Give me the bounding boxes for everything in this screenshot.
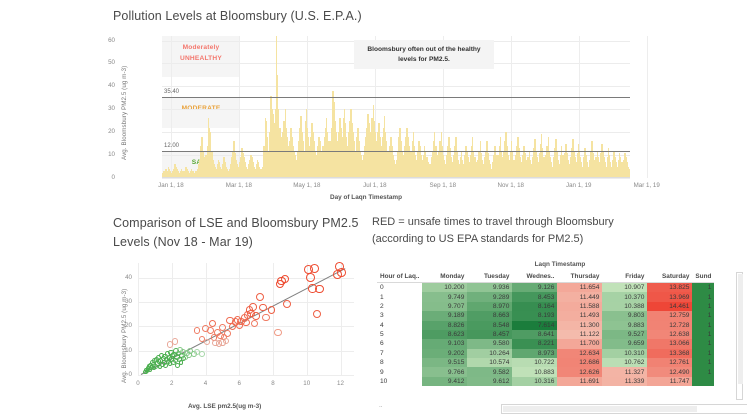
scatter-point[interactable]	[306, 273, 315, 282]
crosstab-cell[interactable]	[692, 377, 714, 386]
crosstab-cell[interactable]: 12.728	[647, 321, 692, 330]
crosstab-cell[interactable]: 1	[692, 339, 714, 348]
crosstab-cell[interactable]: 10.883	[512, 367, 557, 376]
table-row[interactable]: 19.7499.2898.45311.44910.37013.9691	[377, 292, 714, 301]
crosstab-body[interactable]: 010.2009.9369.12611.65410.90713.825119.7…	[377, 283, 714, 387]
crosstab-cell[interactable]: 9.883	[602, 321, 647, 330]
scatter-point[interactable]	[283, 300, 291, 308]
scatter-point[interactable]	[199, 351, 205, 357]
crosstab-cell[interactable]: 11.122	[557, 330, 602, 339]
scatter-point[interactable]	[262, 314, 270, 322]
crosstab-col-header-wednes[interactable]: Wednes..	[512, 272, 557, 283]
crosstab-cell[interactable]: 10.722	[512, 358, 557, 367]
scatter-point[interactable]	[337, 268, 346, 277]
scatter-x-tick: 10	[295, 380, 319, 387]
top-chart-y-tick: 60	[75, 37, 115, 44]
scatter-vgrid	[138, 263, 139, 375]
crosstab-cell[interactable]: 9.749	[422, 292, 467, 301]
crosstab-cell[interactable]: 11.588	[557, 302, 602, 311]
threshold-line-35.40	[162, 97, 630, 98]
top-chart-vgrid	[647, 36, 648, 178]
crosstab-cell[interactable]: 8.457	[467, 330, 512, 339]
scatter-point[interactable]	[249, 303, 257, 311]
crosstab-container[interactable]: Laqn Timestamp Hour of Laq..MondayTuesda…	[377, 261, 743, 413]
scatter-vgrid	[273, 263, 274, 375]
crosstab-cell[interactable]: 10.762	[602, 358, 647, 367]
band-label-0-line2: UNHEALTHY	[162, 55, 240, 62]
crosstab-cell[interactable]: 8.221	[512, 339, 557, 348]
scatter-x-tick: 2	[160, 380, 184, 387]
crosstab-cell[interactable]: 10.388	[602, 302, 647, 311]
crosstab-cell[interactable]: 9.803	[602, 311, 647, 320]
top-chart-x-axis-line	[162, 177, 630, 178]
scatter-point[interactable]	[315, 285, 323, 293]
crosstab-cell[interactable]: 11.300	[557, 321, 602, 330]
scatter-point[interactable]	[281, 275, 289, 283]
crosstab-cell[interactable]: 12.490	[647, 367, 692, 376]
table-horizontal-scroll-thumb[interactable]	[503, 406, 697, 412]
crosstab-cell[interactable]: 9.659	[602, 339, 647, 348]
crosstab-cell[interactable]: 1	[692, 330, 714, 339]
crosstab-cell[interactable]: 9.515	[422, 358, 467, 367]
crosstab-cell[interactable]: 10.907	[602, 283, 647, 293]
top-chart-y-axis-label: Avg. Bloomsbury PM2.5 (ug m-3)	[121, 66, 128, 160]
crosstab-cell[interactable]: 12.626	[557, 367, 602, 376]
crosstab-cell[interactable]: 1	[692, 321, 714, 330]
scatter-point[interactable]	[252, 312, 260, 320]
crosstab-row-label: 8	[377, 358, 422, 367]
crosstab-cell[interactable]: 9.580	[467, 339, 512, 348]
top-chart-x-axis-label: Day of Laqn Timestamp	[330, 194, 402, 201]
crosstab-row-label: 9	[377, 367, 422, 376]
crosstab-cell[interactable]: 13.825	[647, 283, 692, 293]
scatter-x-tick: 8	[261, 380, 285, 387]
crosstab-col-header-thursday[interactable]: Thursday	[557, 272, 602, 283]
crosstab-cell[interactable]: 10.200	[422, 283, 467, 293]
crosstab-cell[interactable]: 1	[692, 358, 714, 367]
crosstab-cell[interactable]: 11.654	[557, 283, 602, 293]
table-row[interactable]: 39.1898.6638.19311.4939.80312.7591	[377, 311, 714, 320]
top-chart-annotation: Bloomsbury often out of the healthy leve…	[354, 40, 494, 69]
crosstab-cell[interactable]: 1	[692, 292, 714, 301]
dashboard: Pollution Levels at Bloomsbury (U.S. E.P…	[0, 0, 747, 420]
row-overflow-indicator: ..	[379, 402, 383, 409]
crosstab-cell[interactable]: 11.691	[557, 377, 602, 386]
scatter-hgrid	[138, 326, 354, 327]
scatter-point[interactable]	[204, 339, 210, 345]
table-row[interactable]: 29.7078.9708.16411.58810.38814.4611	[377, 302, 714, 311]
table-row[interactable]: 109.4129.61210.31611.69111.33911.747	[377, 377, 714, 386]
scatter-y-tick: 0	[114, 371, 132, 378]
crosstab-cell[interactable]: 9.103	[422, 339, 467, 348]
crosstab-cell[interactable]: 10.574	[467, 358, 512, 367]
crosstab-cell[interactable]: 11.747	[647, 377, 692, 386]
scatter-hgrid	[138, 278, 354, 279]
top-chart-x-tick: Sep 1, 18	[413, 182, 473, 189]
scatter-x-tick: 6	[227, 380, 251, 387]
top-chart-y-tick: 40	[75, 82, 115, 89]
crosstab-cell[interactable]: 1	[692, 302, 714, 311]
crosstab-cell[interactable]: 9.527	[602, 330, 647, 339]
heatmap-table-panel: RED = unsafe times to travel through Blo…	[372, 205, 747, 420]
table-vertical-scrollbar[interactable]	[736, 272, 743, 400]
crosstab-cell[interactable]: 1	[692, 283, 714, 293]
crosstab-header-row: Hour of Laq..MondayTuesdayWednes..Thursd…	[377, 272, 714, 283]
crosstab-cell[interactable]: 8.973	[512, 349, 557, 358]
top-chart-x-tick: Mar 1, 19	[617, 182, 677, 189]
crosstab-row-label: 1	[377, 292, 422, 301]
crosstab-cell[interactable]: 9.202	[422, 349, 467, 358]
column-group-header: Laqn Timestamp	[377, 261, 743, 268]
crosstab-head: Hour of Laq..MondayTuesdayWednes..Thursd…	[377, 272, 714, 283]
table-row[interactable]: 010.2009.9369.12611.65410.90713.8251	[377, 283, 714, 293]
crosstab-cell[interactable]: 11.327	[602, 367, 647, 376]
scatter-point[interactable]	[179, 360, 184, 365]
page-title: Pollution Levels at Bloomsbury (U.S. E.P…	[113, 9, 362, 23]
crosstab-cell[interactable]: 14.461	[647, 302, 692, 311]
scatter-y-tick: 40	[114, 274, 132, 281]
crosstab-row-header[interactable]: Hour of Laq..	[377, 272, 422, 283]
crosstab-row-label: 6	[377, 339, 422, 348]
scatter-hgrid	[138, 375, 354, 376]
scatter-point[interactable]	[194, 327, 201, 334]
scatter-point[interactable]	[223, 338, 229, 344]
crosstab-col-header-monday[interactable]: Monday	[422, 272, 467, 283]
top-chart-x-tick: Jul 1, 18	[345, 182, 405, 189]
scatter-panel: Comparison of LSE and Bloomsbury PM2.5 L…	[0, 205, 372, 420]
scatter-point[interactable]	[224, 330, 231, 337]
table-row[interactable]: 89.51510.57410.72212.68610.76212.7611	[377, 358, 714, 367]
scatter-point[interactable]	[172, 338, 178, 344]
pollution-timeseries-panel: Pollution Levels at Bloomsbury (U.S. E.P…	[0, 0, 747, 205]
crosstab-cell[interactable]: 12.686	[557, 358, 602, 367]
crosstab-col-header-tuesday[interactable]: Tuesday	[467, 272, 512, 283]
table-row[interactable]: 99.7669.58210.88312.62611.32712.4901	[377, 367, 714, 376]
band-region-1	[162, 97, 240, 128]
scatter-plot-area[interactable]	[138, 263, 354, 375]
scatter-point[interactable]	[274, 329, 281, 336]
top-chart-gridline	[162, 132, 630, 133]
crosstab-cell[interactable]: 11.700	[557, 339, 602, 348]
crosstab-cell[interactable]: 12.759	[647, 311, 692, 320]
top-chart-x-tick: Nov 1, 18	[481, 182, 541, 189]
scatter-y-tick: 30	[114, 298, 132, 305]
crosstab-row-label: 10	[377, 377, 422, 386]
threshold-line-12.00	[162, 151, 630, 152]
top-chart-x-tick: Jan 1, 18	[141, 182, 201, 189]
crosstab-row-label: 2	[377, 302, 422, 311]
table-row[interactable]: 58.6238.4578.64111.1229.52712.6381	[377, 330, 714, 339]
crosstab-cell[interactable]: 10.310	[602, 349, 647, 358]
table-horizontal-scrollbar[interactable]	[501, 404, 747, 414]
scatter-point[interactable]	[313, 310, 321, 318]
scatter-vgrid	[206, 263, 207, 375]
crosstab-cell[interactable]: 11.449	[557, 292, 602, 301]
scatter-x-tick: 0	[126, 380, 150, 387]
crosstab-cell[interactable]: 9.289	[467, 292, 512, 301]
crosstab-cell[interactable]: 13.066	[647, 339, 692, 348]
scatter-x-tick: 4	[194, 380, 218, 387]
crosstab-row-label: 3	[377, 311, 422, 320]
crosstab-cell[interactable]: 9.126	[512, 283, 557, 293]
scatter-y-tick: 10	[114, 347, 132, 354]
crosstab-cell[interactable]: 8.641	[512, 330, 557, 339]
top-chart-vgrid	[171, 36, 172, 178]
crosstab-cell[interactable]: 8.623	[422, 330, 467, 339]
crosstab-cell[interactable]: 9.412	[422, 377, 467, 386]
crosstab-cell[interactable]: 1	[692, 349, 714, 358]
pm25-crosstab[interactable]: Hour of Laq..MondayTuesdayWednes..Thursd…	[377, 272, 714, 386]
table-row[interactable]: 48.8268.5487.61411.3009.88312.7281	[377, 321, 714, 330]
top-chart-x-tick: Jan 1, 19	[549, 182, 609, 189]
crosstab-cell[interactable]: 8.548	[467, 321, 512, 330]
top-chart-y-tick: 30	[75, 105, 115, 112]
scatter-point[interactable]	[268, 306, 276, 314]
top-chart-y-tick: 10	[75, 151, 115, 158]
crosstab-cell[interactable]: 10.370	[602, 292, 647, 301]
table-vertical-scroll-thumb[interactable]	[738, 274, 743, 384]
crosstab-cell[interactable]: 11.339	[602, 377, 647, 386]
scatter-vgrid	[341, 263, 342, 375]
crosstab-cell[interactable]: 13.969	[647, 292, 692, 301]
crosstab-cell[interactable]: 9.936	[467, 283, 512, 293]
crosstab-cell[interactable]: 10.264	[467, 349, 512, 358]
crosstab-cell[interactable]: 8.193	[512, 311, 557, 320]
crosstab-cell[interactable]: 9.707	[422, 302, 467, 311]
scatter-y-tick: 20	[114, 322, 132, 329]
scatter-point[interactable]	[207, 327, 214, 334]
scatter-point[interactable]	[256, 293, 264, 301]
crosstab-cell[interactable]: 12.761	[647, 358, 692, 367]
scatter-title: Comparison of LSE and Bloomsbury PM2.5 L…	[113, 214, 373, 252]
scatter-point[interactable]	[259, 304, 267, 312]
threshold-value-12.00: 12.00	[164, 143, 179, 149]
crosstab-cell[interactable]: 8.970	[467, 302, 512, 311]
crosstab-cell[interactable]: 8.164	[512, 302, 557, 311]
crosstab-cell[interactable]: 8.826	[422, 321, 467, 330]
crosstab-cell[interactable]: 9.766	[422, 367, 467, 376]
scatter-point[interactable]	[310, 264, 319, 273]
crosstab-cell[interactable]: 13.368	[647, 349, 692, 358]
crosstab-row-label: 7	[377, 349, 422, 358]
top-chart-x-tick: Mar 1, 18	[209, 182, 269, 189]
crosstab-cell[interactable]: 8.453	[512, 292, 557, 301]
crosstab-cell[interactable]: 1	[692, 311, 714, 320]
crosstab-cell[interactable]: 10.316	[512, 377, 557, 386]
scatter-x-tick: 12	[329, 380, 353, 387]
top-chart-gridline	[162, 86, 630, 87]
top-chart-x-tick: May 1, 18	[277, 182, 337, 189]
band-label-0: Moderately	[162, 44, 240, 51]
crosstab-cell[interactable]: 8.663	[467, 311, 512, 320]
crosstab-row-label: 0	[377, 283, 422, 293]
scatter-hgrid	[138, 302, 354, 303]
crosstab-col-header-sund[interactable]: Sund	[692, 272, 714, 283]
crosstab-cell[interactable]: 11.493	[557, 311, 602, 320]
crosstab-cell[interactable]: 9.189	[422, 311, 467, 320]
crosstab-cell[interactable]: 12.634	[557, 349, 602, 358]
crosstab-col-header-saturday[interactable]: Saturday	[647, 272, 692, 283]
crosstab-row-label: 4	[377, 321, 422, 330]
top-chart-gridline	[162, 109, 630, 110]
top-chart-y-tick: 20	[75, 128, 115, 135]
crosstab-col-header-friday[interactable]: Friday	[602, 272, 647, 283]
crosstab-cell[interactable]: 9.582	[467, 367, 512, 376]
red-legend-note: RED = unsafe times to travel through Blo…	[372, 214, 622, 248]
scatter-x-axis-label: Avg. LSE pm2.5(ug m-3)	[188, 403, 261, 410]
top-chart-gridline	[162, 178, 630, 179]
crosstab-row-label: 5	[377, 330, 422, 339]
crosstab-cell[interactable]: 1	[692, 367, 714, 376]
table-row[interactable]: 79.20210.2648.97312.63410.31013.3681	[377, 349, 714, 358]
crosstab-cell[interactable]: 12.638	[647, 330, 692, 339]
top-chart-y-tick: 50	[75, 59, 115, 66]
crosstab-cell[interactable]: 9.612	[467, 377, 512, 386]
table-row[interactable]: 69.1039.5808.22111.7009.65913.0661	[377, 339, 714, 348]
crosstab-cell[interactable]: 7.614	[512, 321, 557, 330]
threshold-value-35.40: 35.40	[164, 89, 179, 95]
top-chart-y-tick: 0	[75, 174, 115, 181]
